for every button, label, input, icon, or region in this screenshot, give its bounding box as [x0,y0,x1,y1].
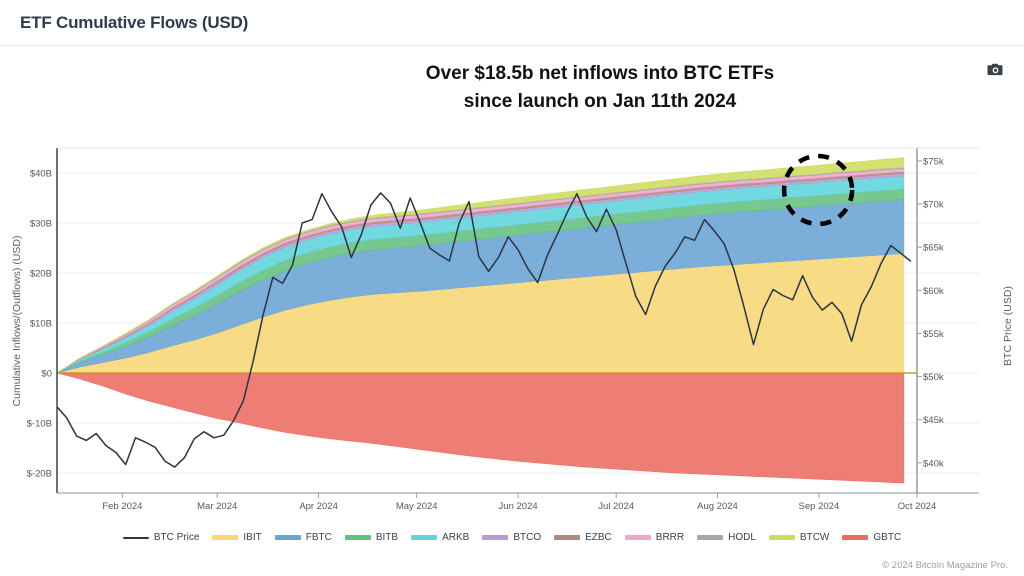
legend-item-hodl[interactable]: HODL [697,532,756,543]
svg-text:Sep 2024: Sep 2024 [799,501,840,512]
svg-text:$0: $0 [41,369,52,380]
svg-text:$60k: $60k [923,286,944,297]
legend-label: BITB [376,532,398,543]
y2-axis-tick-labels: $75k$70k$65k$60k$55k$50k$45k$40k [917,156,944,469]
svg-text:Mar 2024: Mar 2024 [197,501,237,512]
legend-item-btco[interactable]: BTCO [482,532,541,543]
etf-flows-chart-page: ETF Cumulative Flows (USD) Over $18.5b n… [0,0,1024,576]
page-title: ETF Cumulative Flows (USD) [20,13,248,33]
svg-text:$55k: $55k [923,329,944,340]
y2-axis-title: BTC Price (USD) [1002,286,1014,366]
svg-text:$30B: $30B [30,219,52,230]
legend-item-arkb[interactable]: ARKB [411,532,469,543]
svg-text:May 2024: May 2024 [396,501,438,512]
legend-item-bitb[interactable]: BITB [345,532,398,543]
etf-cumulative-flows-chart[interactable]: BITCOIN MAGAZINE PRO [0,46,1024,576]
legend-swatch-hodl [697,535,723,540]
svg-text:$-20B: $-20B [27,469,52,480]
legend-swatch-ibit [212,535,238,540]
legend-label: BTCO [513,532,541,543]
y-axis-title: Cumulative Inflows/(Outflows) (USD) [11,236,23,407]
svg-text:$70k: $70k [923,200,944,211]
y-axis-tick-labels: $40B$30B$20B$10B$0$-10B$-20B [27,169,52,480]
svg-text:$20B: $20B [30,269,52,280]
legend-item-brrr[interactable]: BRRR [625,532,684,543]
legend-swatch-arkb [411,535,437,540]
svg-text:$65k: $65k [923,243,944,254]
legend-label: BTCW [800,532,829,543]
x-axis-tick-labels: Feb 2024Mar 2024Apr 2024May 2024Jun 2024… [102,493,936,512]
svg-text:$40k: $40k [923,458,944,469]
svg-text:$75k: $75k [923,156,944,167]
area-series-gbtc [57,373,904,483]
chart-legend: BTC PriceIBITFBTCBITBARKBBTCOEZBCBRRRHOD… [0,532,1024,543]
legend-swatch-brrr [625,535,651,540]
legend-item-gbtc[interactable]: GBTC [842,532,901,543]
svg-text:Feb 2024: Feb 2024 [102,501,142,512]
svg-text:Apr 2024: Apr 2024 [299,501,338,512]
stacked-area-series [57,158,904,483]
svg-text:Jun 2024: Jun 2024 [499,501,538,512]
legend-item-ibit[interactable]: IBIT [212,532,261,543]
legend-label: IBIT [243,532,261,543]
legend-label: HODL [728,532,756,543]
legend-label: EZBC [585,532,612,543]
legend-item-fbtc[interactable]: FBTC [275,532,332,543]
copyright-credit: © 2024 Bitcoin Magazine Pro. [882,560,1008,571]
svg-text:$45k: $45k [923,415,944,426]
svg-text:Oct 2024: Oct 2024 [898,501,937,512]
page-header: ETF Cumulative Flows (USD) [0,0,1024,46]
legend-swatch-btc-price [123,537,149,539]
legend-label: BRRR [656,532,684,543]
legend-swatch-bitb [345,535,371,540]
legend-swatch-ezbc [554,535,580,540]
legend-item-btcw[interactable]: BTCW [769,532,829,543]
legend-label: FBTC [306,532,332,543]
legend-swatch-btcw [769,535,795,540]
svg-text:$10B: $10B [30,319,52,330]
legend-label: ARKB [442,532,469,543]
legend-label: GBTC [873,532,901,543]
svg-text:Aug 2024: Aug 2024 [697,501,738,512]
legend-item-btc-price[interactable]: BTC Price [123,532,200,543]
svg-text:$40B: $40B [30,169,52,180]
chart-container: BITCOIN MAGAZINE PRO [0,46,1024,576]
svg-text:$50k: $50k [923,372,944,383]
svg-text:$-10B: $-10B [27,419,52,430]
legend-label: BTC Price [154,532,200,543]
legend-item-ezbc[interactable]: EZBC [554,532,612,543]
legend-swatch-btco [482,535,508,540]
legend-swatch-gbtc [842,535,868,540]
svg-text:Jul 2024: Jul 2024 [598,501,634,512]
legend-swatch-fbtc [275,535,301,540]
